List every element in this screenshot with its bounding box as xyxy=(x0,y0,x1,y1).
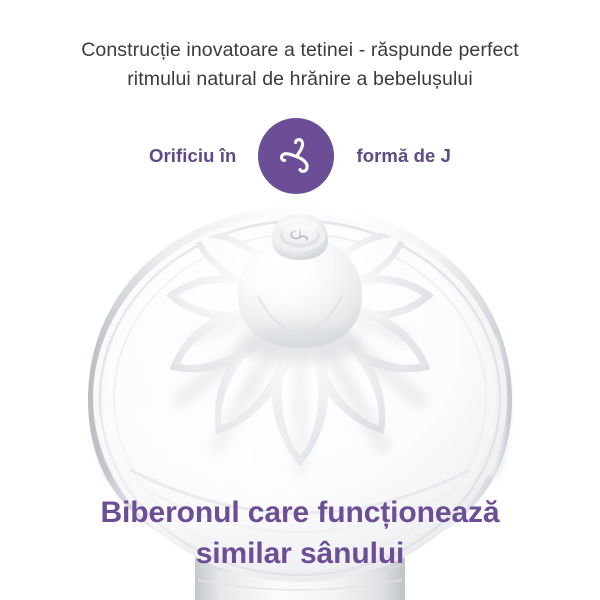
claim-text: Biberonul care funcționează similar sânu… xyxy=(40,492,560,574)
headline-line-2: ritmului natural de hrănire a bebelușulu… xyxy=(50,65,550,94)
claim-line-2: similar sânului xyxy=(40,533,560,574)
badge-label-right: formă de J xyxy=(356,145,451,167)
promo-banner: Construcție inovatoare a tetinei - răspu… xyxy=(0,0,600,600)
j-hole-badge-row: Orificiu în formă de J xyxy=(0,117,600,195)
headline-text: Construcție inovatoare a tetinei - răspu… xyxy=(50,36,550,94)
claim-line-1: Biberonul care funcționează xyxy=(100,496,499,529)
badge-label-left: Orificiu în xyxy=(149,145,236,167)
j-shaped-hole-icon xyxy=(258,118,334,194)
headline-line-1: Construcție inovatoare a tetinei - răspu… xyxy=(81,39,519,61)
